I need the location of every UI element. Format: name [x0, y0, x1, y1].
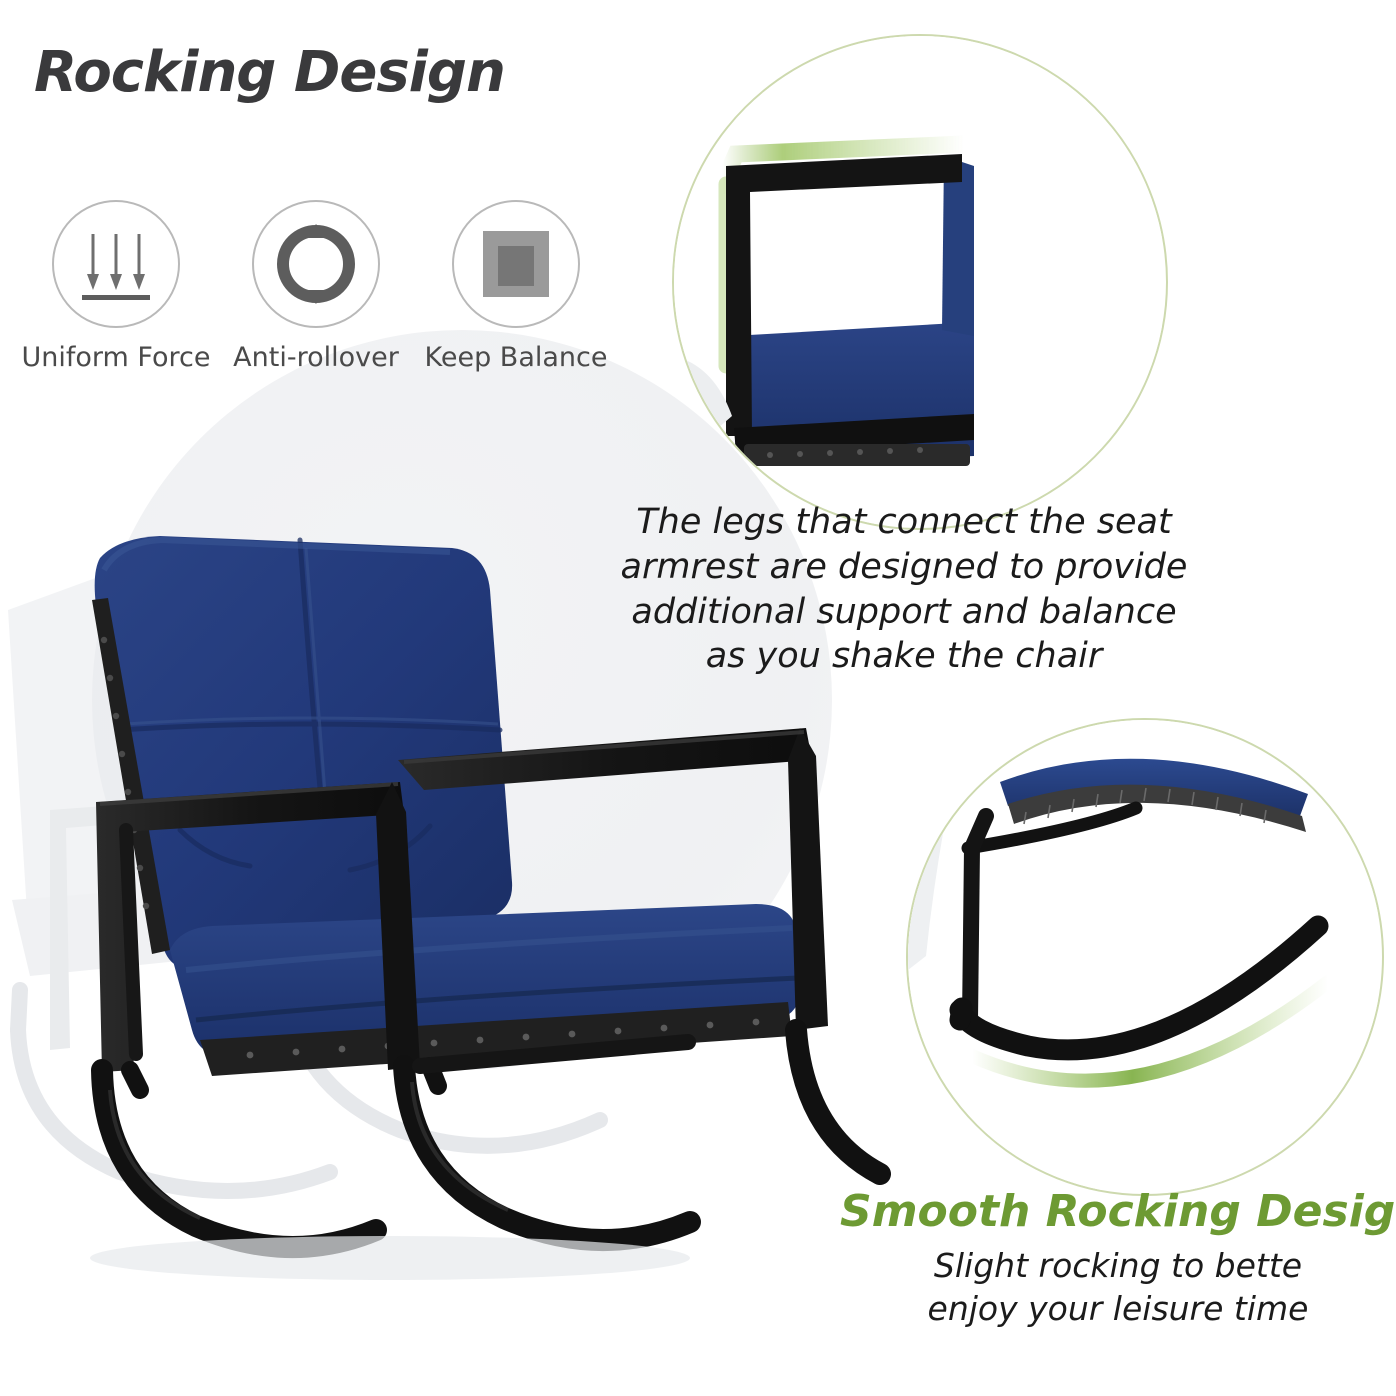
nested-squares-icon — [470, 218, 562, 310]
down-arrows-on-bar-icon — [70, 218, 162, 310]
callout-heading: Smooth Rocking Design — [840, 1186, 1396, 1237]
feature-label: Anti-rollover — [233, 342, 399, 373]
feature-circle — [52, 200, 180, 328]
callout-subtext-line: enjoy your leisure time — [840, 1288, 1396, 1331]
callout-subtext-line: Slight rocking to bette — [840, 1245, 1396, 1288]
feature-icon-row: Uniform Force Anti-rollover — [16, 200, 616, 373]
rocker-base-detail-inset — [906, 718, 1384, 1196]
feature-anti-rollover: Anti-rollover — [216, 200, 416, 373]
infographic-canvas: Rocking Design — [0, 0, 1396, 1396]
feature-label: Uniform Force — [22, 342, 211, 373]
floor-shadow — [90, 1236, 690, 1280]
smooth-rocking-callout: Smooth Rocking Design Slight rocking to … — [840, 1186, 1396, 1331]
page-title: Rocking Design — [34, 40, 505, 105]
feature-circle — [452, 200, 580, 328]
feature-label: Keep Balance — [425, 342, 608, 373]
product-photo-rocking-chair — [0, 430, 900, 1396]
feature-keep-balance: Keep Balance — [416, 200, 616, 373]
feature-circle — [252, 200, 380, 328]
support-bar-left — [126, 830, 136, 1054]
feature-uniform-force: Uniform Force — [16, 200, 216, 373]
callout-subtext: Slight rocking to bette enjoy your leisu… — [840, 1245, 1396, 1331]
circular-rotation-arrows-icon — [270, 218, 362, 310]
